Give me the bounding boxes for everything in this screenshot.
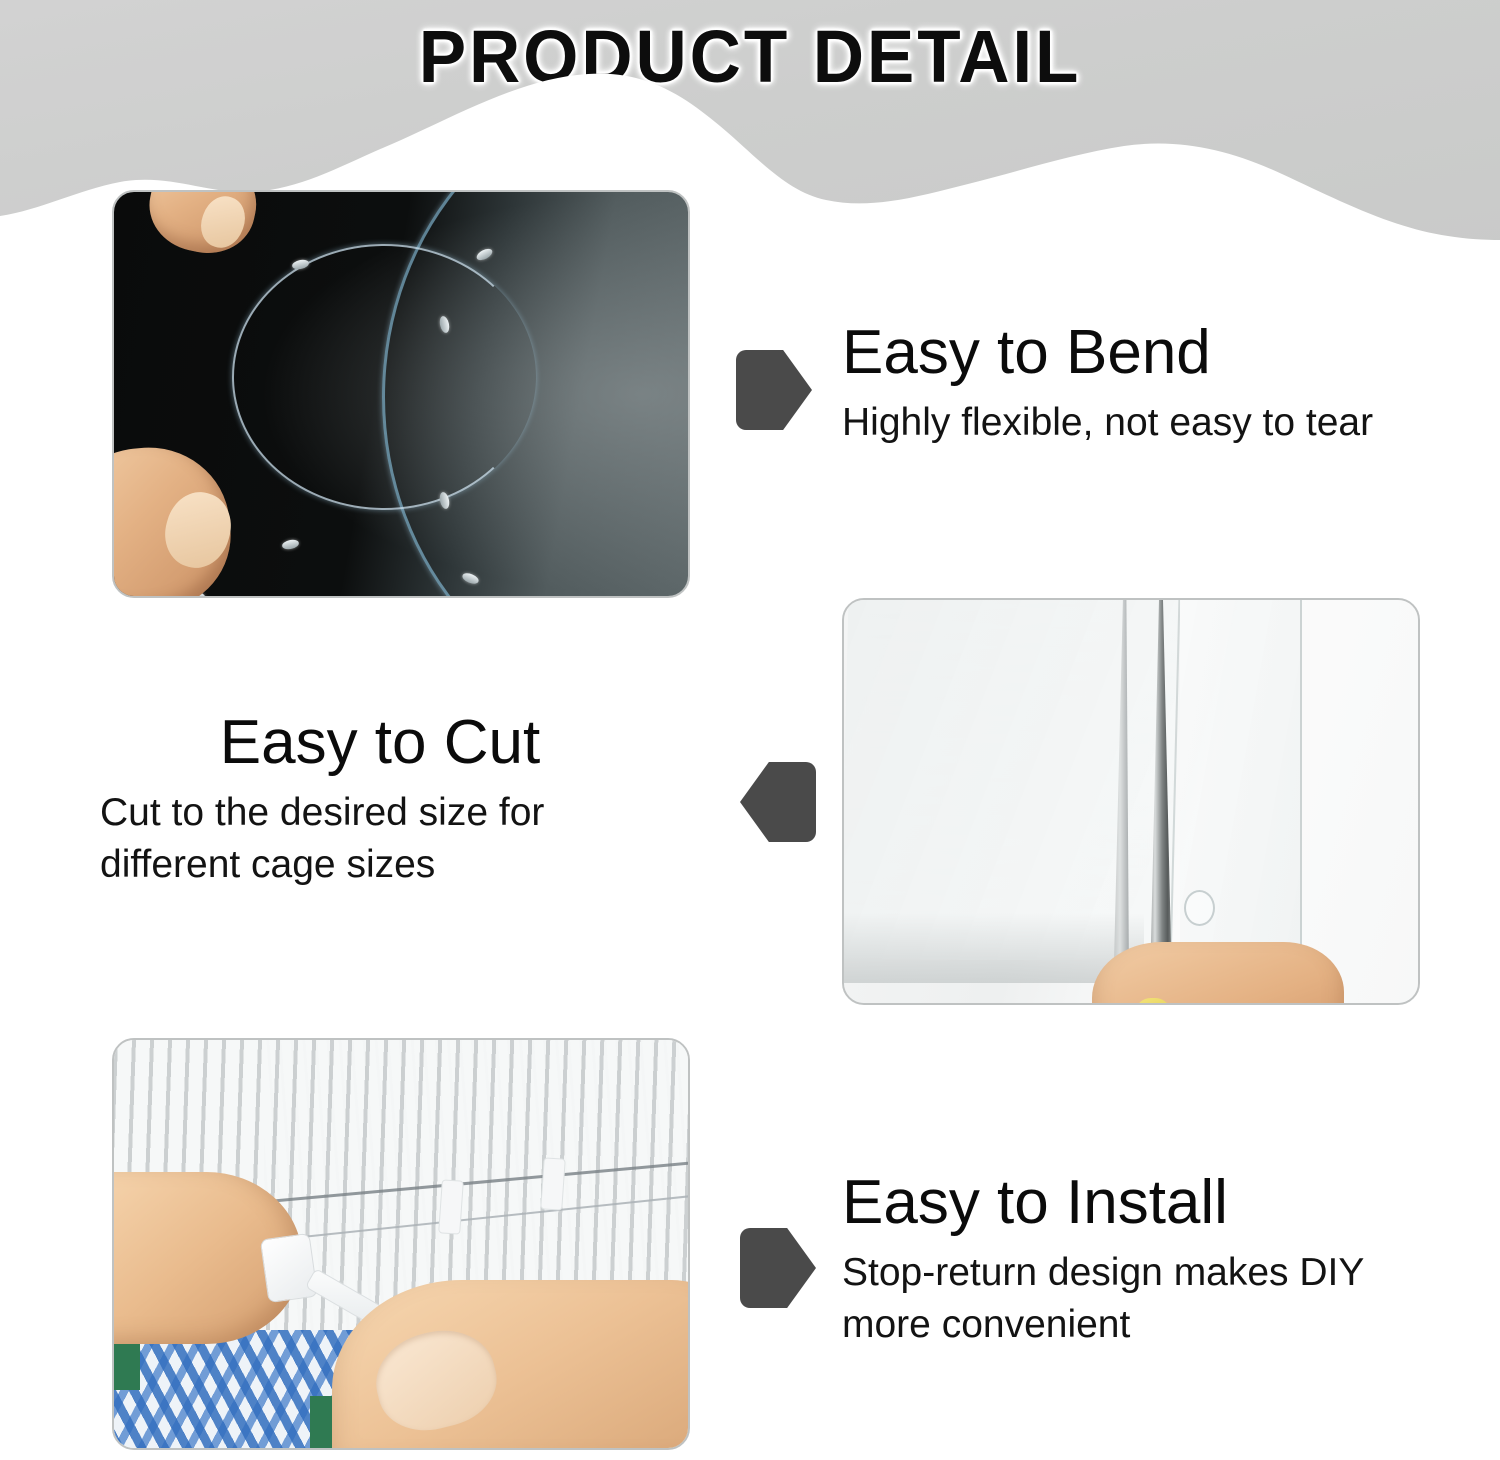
feature-easy-to-cut: Easy to Cut Cut to the desired size for … (100, 712, 720, 890)
hand-holding-scissors (1092, 942, 1344, 1005)
feature-title-cut: Easy to Cut (100, 712, 660, 774)
feature-subtitle-install-line1: Stop-return design makes DIY (842, 1248, 1364, 1298)
photo-easy-to-install (112, 1038, 690, 1450)
feature-subtitle-cut-line2: different cage sizes (100, 840, 720, 890)
zip-tie (540, 1157, 566, 1210)
feature-easy-to-bend: Easy to Bend Highly flexible, not easy t… (842, 322, 1373, 448)
photo-install-image (114, 1040, 688, 1448)
arrow-right-pentagon-icon (736, 350, 812, 430)
zip-tie (438, 1179, 464, 1234)
mount-hole (1184, 890, 1215, 926)
mount-hole (281, 538, 299, 550)
clip-head (260, 1233, 318, 1303)
feature-title-bend: Easy to Bend (842, 322, 1373, 384)
acrylic-sheet-left (842, 600, 1180, 960)
feature-subtitle-cut-line1: Cut to the desired size for (100, 788, 720, 838)
feature-subtitle-bend: Highly flexible, not easy to tear (842, 398, 1373, 448)
photo-bend-image (114, 192, 688, 596)
photo-easy-to-bend (112, 190, 690, 598)
arrow-right-pentagon-icon (740, 1228, 816, 1308)
feature-title-install: Easy to Install (842, 1172, 1364, 1234)
feature-subtitle-install-line2: more convenient (842, 1300, 1364, 1350)
feature-easy-to-install: Easy to Install Stop-return design makes… (842, 1172, 1364, 1350)
photo-easy-to-cut (842, 598, 1420, 1005)
arrow-left-pentagon-icon (740, 762, 816, 842)
acrylic-bent-edge (232, 244, 536, 510)
photo-cut-image (844, 600, 1418, 1003)
